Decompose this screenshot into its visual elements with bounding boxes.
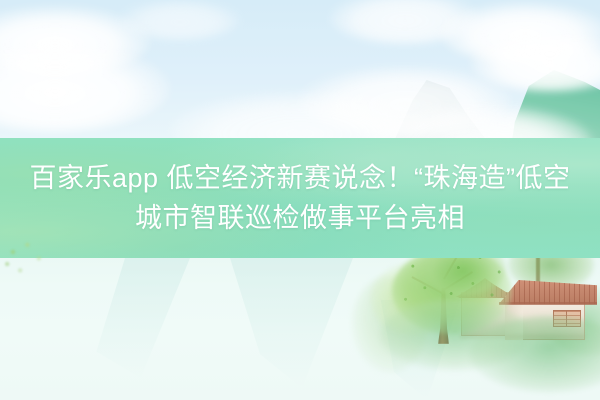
headline-line-2: 城市智联巡检做事平台亮相: [135, 201, 465, 235]
page-title: 百家乐app 低空经济新赛说念！“珠海造”低空 城市智联巡检做事平台亮相: [0, 138, 600, 258]
headline-line-1: 百家乐app 低空经济新赛说念！“珠海造”低空: [29, 161, 570, 195]
banner-image: 百家乐app 低空经济新赛说念！“珠海造”低空 城市智联巡检做事平台亮相: [0, 0, 600, 400]
cloud-icon: [120, 0, 240, 40]
